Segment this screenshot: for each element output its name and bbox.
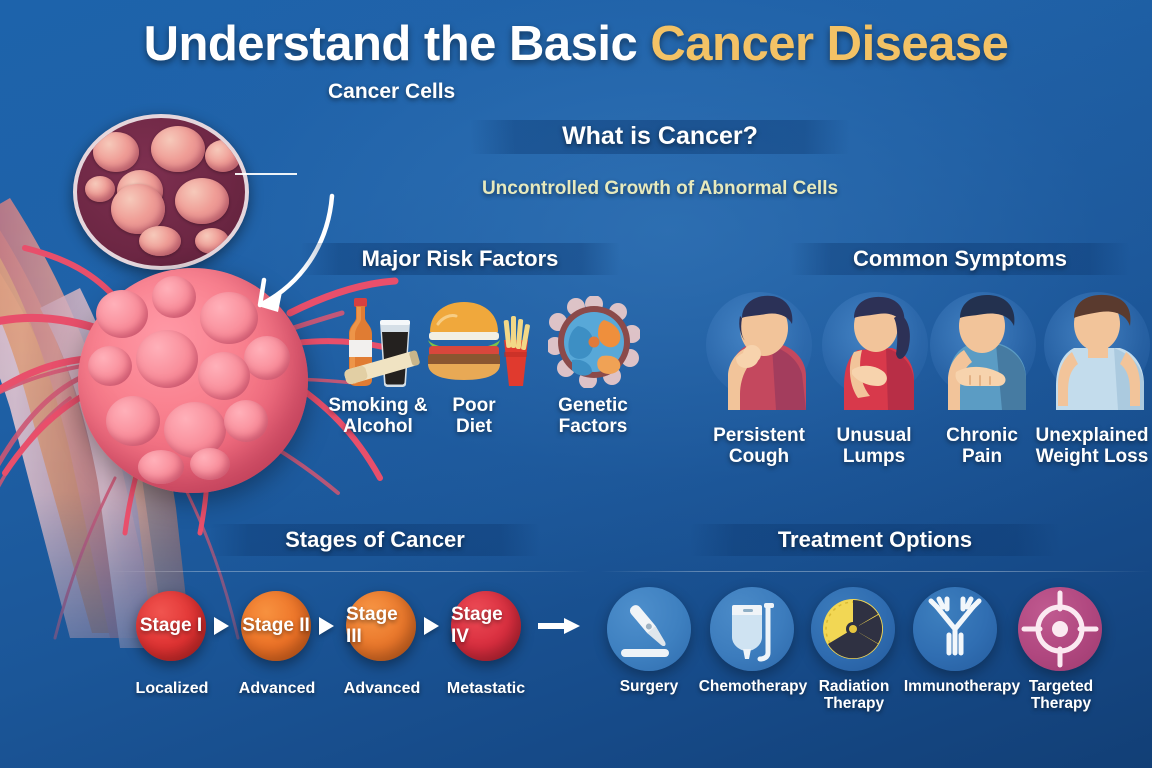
treatment-circle-immuno[interactable] [913, 587, 997, 671]
stage-circle-3[interactable]: Stage IV [451, 591, 521, 661]
title-part-accent: Cancer Disease [650, 17, 1008, 71]
treatment-divider [600, 571, 1152, 572]
treatment-heading: Treatment Options [690, 527, 1060, 553]
scalpel-icon [607, 587, 691, 671]
bottle-glass-cigarette-icon [330, 292, 436, 390]
treatment-label-0: Surgery [601, 678, 697, 695]
treatment-circle-chemo[interactable] [710, 587, 794, 671]
treatment-circle-targeted[interactable] [1018, 587, 1102, 671]
symptom-label-3: Unexplained Weight Loss [1030, 426, 1152, 467]
page-title: Understand the Basic Cancer Disease [0, 16, 1152, 72]
symptoms-heading: Common Symptoms [790, 246, 1130, 272]
cancer-cells-callout-label: Cancer Cells [328, 80, 455, 104]
stage-arrow-1 [319, 617, 334, 635]
what-is-cancer-heading: What is Cancer? [436, 122, 884, 151]
burger-fries-icon [424, 296, 532, 390]
progression-arrow-icon [538, 618, 580, 634]
cell-dna-icon [548, 296, 640, 388]
infographic-canvas: Understand the Basic Cancer Disease What… [0, 0, 1152, 768]
stage-sub-1: Advanced [228, 680, 326, 698]
person-weight-loss-icon [1040, 288, 1152, 410]
treatment-circle-surgery[interactable] [607, 587, 691, 671]
stage-circle-2[interactable]: Stage III [346, 591, 416, 661]
target-crosshair-icon [1018, 587, 1102, 671]
risk-factor-label-1: Poor Diet [424, 396, 524, 437]
iv-drip-icon [710, 587, 794, 671]
person-breast-lump-icon [818, 288, 934, 410]
symptom-label-1: Unusual Lumps [818, 426, 930, 467]
treatment-label-1: Chemotherapy [694, 678, 812, 695]
person-coughing-icon [702, 288, 818, 410]
stage-arrow-2 [424, 617, 439, 635]
stage-sub-3: Metastatic [434, 680, 538, 698]
radiation-icon [811, 587, 895, 671]
what-is-cancer-subtitle: Uncontrolled Growth of Abnormal Cells [396, 178, 924, 200]
stages-heading: Stages of Cancer [210, 527, 540, 553]
risk-factor-label-2: Genetic Factors [528, 396, 658, 437]
stage-sub-2: Advanced [333, 680, 431, 698]
stages-divider [110, 571, 590, 572]
person-abdominal-pain-icon [926, 288, 1042, 410]
risk-factors-heading: Major Risk Factors [300, 246, 620, 272]
treatment-circle-radiation[interactable] [811, 587, 895, 671]
treatment-label-2: Radiation Therapy [804, 678, 904, 712]
stage-circle-0[interactable]: Stage I [136, 591, 206, 661]
callout-leader-line [235, 173, 297, 175]
title-part-primary: Understand the Basic [144, 17, 651, 71]
treatment-label-3: Immunotherapy [898, 678, 1026, 695]
stage-circle-1[interactable]: Stage II [241, 591, 311, 661]
symptom-label-0: Persistent Cough [700, 426, 818, 467]
stage-arrow-0 [214, 617, 229, 635]
symptom-label-2: Chronic Pain [928, 426, 1036, 467]
antibody-icon [913, 587, 997, 671]
treatment-label-4: Targeted Therapy [1012, 678, 1110, 712]
stage-sub-0: Localized [126, 680, 218, 698]
